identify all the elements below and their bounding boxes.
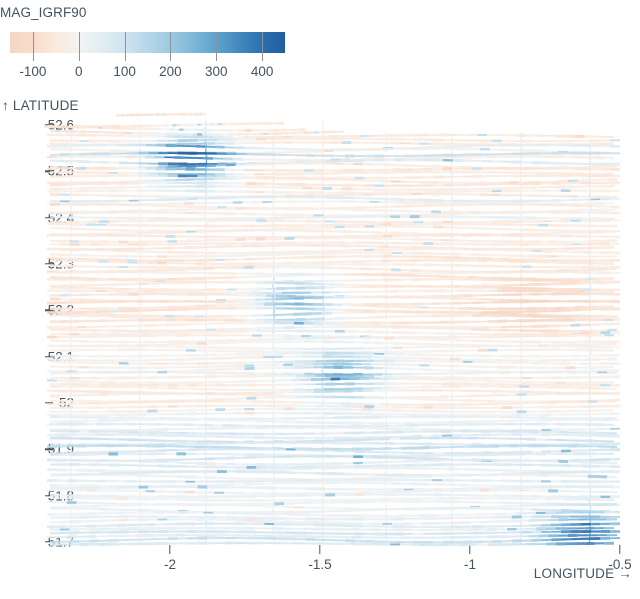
y-axis-tick-mark <box>45 171 53 172</box>
colorbar: -1000100200300400 <box>10 32 285 53</box>
colorbar-legend: MAG_IGRF90 -1000100200300400 <box>0 0 320 86</box>
colorbar-title: MAG_IGRF90 <box>0 5 87 20</box>
y-axis-tick-mark <box>45 310 53 311</box>
y-axis-tick-mark <box>45 356 53 357</box>
y-axis-tick-mark <box>45 217 53 218</box>
colorbar-tick <box>79 32 80 61</box>
colorbar-tick-label: 400 <box>251 64 274 79</box>
colorbar-tick <box>125 32 126 61</box>
x-axis-tick-label: -1.5 <box>308 557 331 572</box>
colorbar-tick <box>33 32 34 61</box>
x-axis-tick-label: -1 <box>464 557 476 572</box>
y-axis-tick-mark <box>45 124 53 125</box>
colorbar-tick <box>170 32 171 61</box>
x-axis-tick-label: -2 <box>164 557 176 572</box>
colorbar-gradient <box>10 32 285 53</box>
x-axis-tick-mark <box>619 545 620 554</box>
survey-plot <box>0 0 640 599</box>
colorbar-tick <box>262 32 263 61</box>
x-axis-tick-mark <box>319 545 320 554</box>
y-axis-tick-label: 52 <box>59 396 74 411</box>
y-axis-tick-mark <box>45 495 53 496</box>
x-axis-tick-mark <box>469 545 470 554</box>
colorbar-tick-label: -100 <box>19 64 46 79</box>
colorbar-tick-label: 0 <box>75 64 83 79</box>
y-axis-tick-mark <box>45 263 53 264</box>
colorbar-tick-label: 100 <box>113 64 136 79</box>
x-axis-tick-label: -0.5 <box>608 557 631 572</box>
colorbar-tick-label: 200 <box>159 64 182 79</box>
y-axis-tick-mark <box>45 402 53 403</box>
colorbar-tick-label: 300 <box>205 64 228 79</box>
x-axis-tick-mark <box>169 545 170 554</box>
colorbar-tick <box>216 32 217 61</box>
y-axis-tick-mark <box>45 449 53 450</box>
y-axis-title: ↑ LATITUDE <box>2 98 79 113</box>
y-axis-tick-mark <box>45 541 53 542</box>
